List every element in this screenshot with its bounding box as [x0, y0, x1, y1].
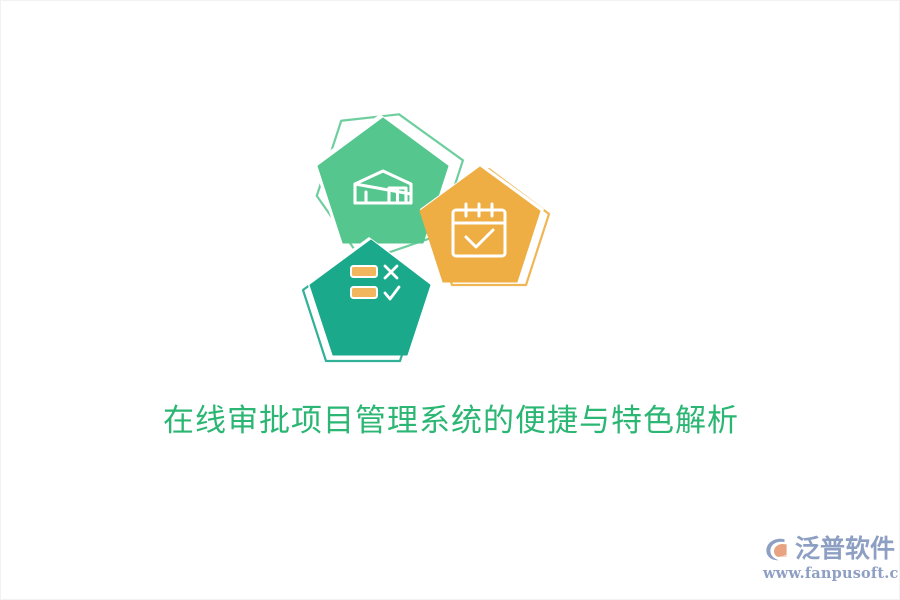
page-title: 在线审批项目管理系统的便捷与特色解析: [1, 401, 900, 441]
brand-logo[interactable]: 泛普软件 www.fanpusoft.com: [763, 533, 885, 585]
pentagon-cluster-illustration: [296, 106, 556, 356]
brand-url: www.fanpusoft.com: [763, 565, 885, 582]
brand-logo-row: 泛普软件: [763, 533, 885, 565]
brand-name: 泛普软件: [795, 534, 895, 564]
tile-checklist: [303, 237, 431, 361]
banner-canvas: 在线审批项目管理系统的便捷与特色解析 泛普软件 www.fanpusoft.co…: [0, 0, 900, 600]
fanpu-c-mark-icon: [763, 534, 793, 564]
